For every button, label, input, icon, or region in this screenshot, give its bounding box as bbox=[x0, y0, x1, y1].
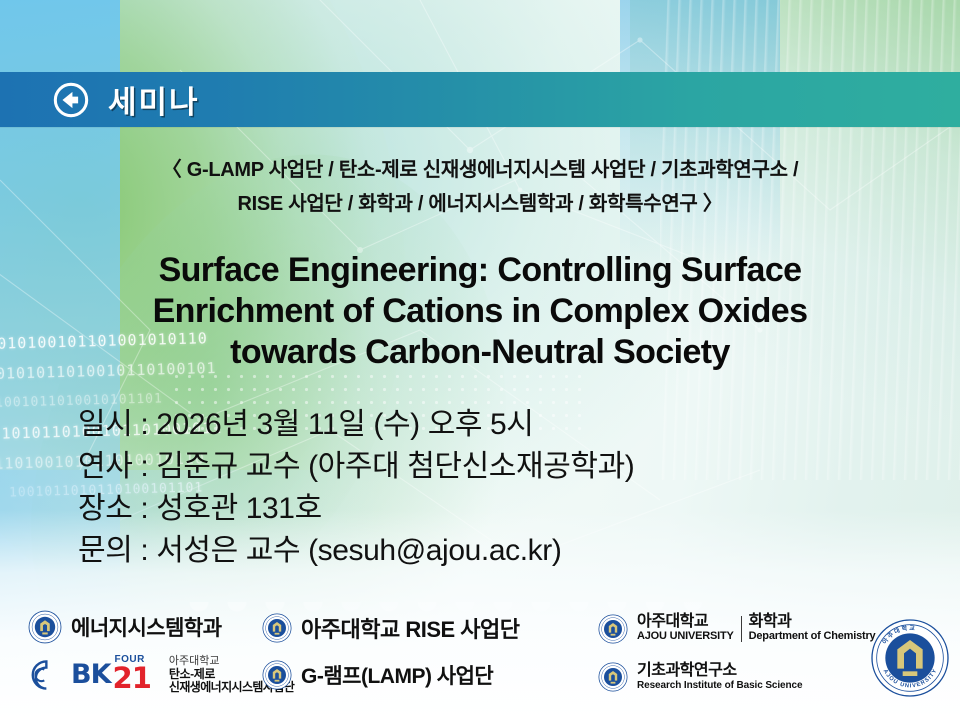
ajou-seal-icon bbox=[262, 660, 292, 690]
logo-department-of-chemistry: 아주대학교 AJOU UNIVERSITY 화학과 Department of … bbox=[598, 614, 875, 644]
ajou-seal-icon bbox=[262, 613, 292, 643]
chemistry-university-block: 아주대학교 AJOU UNIVERSITY bbox=[637, 614, 734, 644]
chemistry-department-block: 화학과 Department of Chemistry bbox=[749, 614, 876, 644]
chemistry-department-kr: 화학과 bbox=[749, 614, 876, 629]
header-title: 세미나 bbox=[108, 77, 200, 122]
chemistry-university-en: AJOU UNIVERSITY bbox=[637, 629, 734, 644]
footer-logo-bar: 에너지시스템학과 BK FOUR 21 아주대학교 탄 bbox=[0, 600, 960, 720]
bk21-wordmark: BK FOUR 21 bbox=[71, 654, 151, 695]
organizers-block: 〈 G-LAMP 사업단 / 탄소-제로 신재생에너지시스템 사업단 / 기초과… bbox=[0, 153, 960, 221]
ribs-name-en: Research Institute of Basic Science bbox=[637, 679, 802, 692]
seal-year-text: 1973 bbox=[904, 665, 916, 671]
logo-research-institute-basic-science: 기초과학연구소 Research Institute of Basic Scie… bbox=[598, 662, 802, 692]
ajou-seal-icon bbox=[598, 614, 628, 644]
bk21-swoosh-icon bbox=[28, 658, 62, 692]
logo-g-lamp-label: G-램프(LAMP) 사업단 bbox=[301, 660, 493, 690]
logo-energy-systems-label: 에너지시스템학과 bbox=[71, 612, 222, 642]
header-band: 세미나 bbox=[0, 72, 960, 127]
ribs-name-kr: 기초과학연구소 bbox=[637, 663, 802, 679]
detail-datetime: 일시 : 2026년 3월 11일 (수) 오후 5시 bbox=[78, 404, 634, 446]
logo-energy-systems: 에너지시스템학과 bbox=[28, 610, 222, 644]
detail-speaker: 연사 : 김준규 교수 (아주대 첨단신소재공학과) bbox=[78, 446, 634, 488]
bk21-bk-text: BK bbox=[71, 659, 111, 690]
chemistry-university-kr: 아주대학교 bbox=[637, 614, 734, 629]
logo-g-lamp: G-램프(LAMP) 사업단 bbox=[262, 660, 493, 690]
seminar-poster: 1010100101101001010110 01010110100101101… bbox=[0, 0, 960, 720]
ajou-seal-large-icon: 아주대학교 AJOU UNIVERSITY 1973 bbox=[870, 618, 950, 698]
organizers-line-2: RISE 사업단 / 화학과 / 에너지시스템학과 / 화학특수연구 〉 bbox=[0, 187, 960, 221]
logo-ajou-rise-label: 아주대학교 RISE 사업단 bbox=[301, 612, 520, 644]
ajou-university-seal: 아주대학교 AJOU UNIVERSITY 1973 bbox=[870, 618, 950, 703]
seminar-title-line-3: towards Carbon-Neutral Society bbox=[30, 332, 930, 373]
logo-bk21-four: BK FOUR 21 아주대학교 탄소-제로 신재생에너지시스템사업단 bbox=[28, 654, 294, 695]
organizers-line-1: 〈 G-LAMP 사업단 / 탄소-제로 신재생에너지시스템 사업단 / 기초과… bbox=[0, 153, 960, 187]
ajou-seal-icon bbox=[28, 610, 62, 644]
seminar-details: 일시 : 2026년 3월 11일 (수) 오후 5시 연사 : 김준규 교수 … bbox=[78, 404, 634, 572]
detail-venue: 장소 : 성호관 131호 bbox=[78, 488, 634, 530]
detail-contact: 문의 : 서성은 교수 (sesuh@ajou.ac.kr) bbox=[78, 530, 634, 572]
chemistry-department-en: Department of Chemistry bbox=[749, 629, 876, 644]
seminar-title: Surface Engineering: Controlling Surface… bbox=[30, 250, 930, 373]
logo-ajou-rise: 아주대학교 RISE 사업단 bbox=[262, 612, 520, 644]
seminar-title-line-2: Enrichment of Cations in Complex Oxides bbox=[30, 291, 930, 332]
ajou-seal-icon bbox=[598, 662, 628, 692]
seminar-title-line-1: Surface Engineering: Controlling Surface bbox=[30, 250, 930, 291]
back-arrow-icon[interactable] bbox=[52, 81, 90, 119]
chemistry-divider bbox=[741, 616, 742, 642]
bk21-21-text: 21 bbox=[113, 661, 151, 695]
